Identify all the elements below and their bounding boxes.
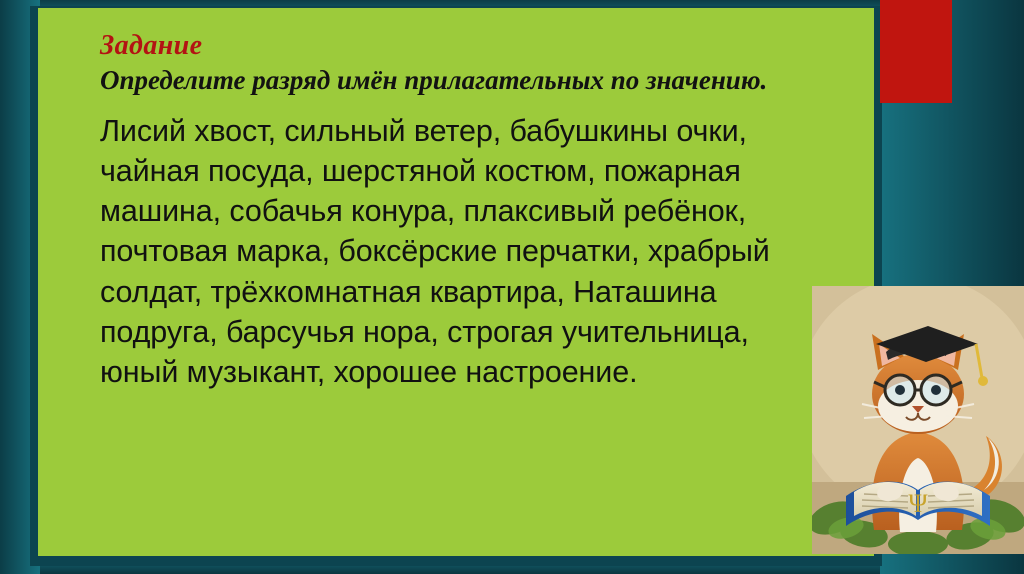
task-instruction: Определите разряд имён прилагательных по… (100, 64, 840, 97)
card-inner-content: Задание Определите разряд имён прилагате… (100, 30, 890, 392)
green-content-card: Задание Определите разряд имён прилагате… (38, 8, 874, 556)
red-accent-block (880, 0, 952, 103)
cat-with-book-illustration: Ψ (812, 286, 1024, 554)
cat-illustration-svg: Ψ (812, 286, 1024, 554)
task-title: Задание (100, 30, 890, 62)
word-list-text: Лисий хвост, сильный ветер, бабушкины оч… (100, 111, 820, 392)
book-symbol: Ψ (908, 489, 928, 518)
slide-canvas: Задание Определите разряд имён прилагате… (0, 0, 1024, 574)
